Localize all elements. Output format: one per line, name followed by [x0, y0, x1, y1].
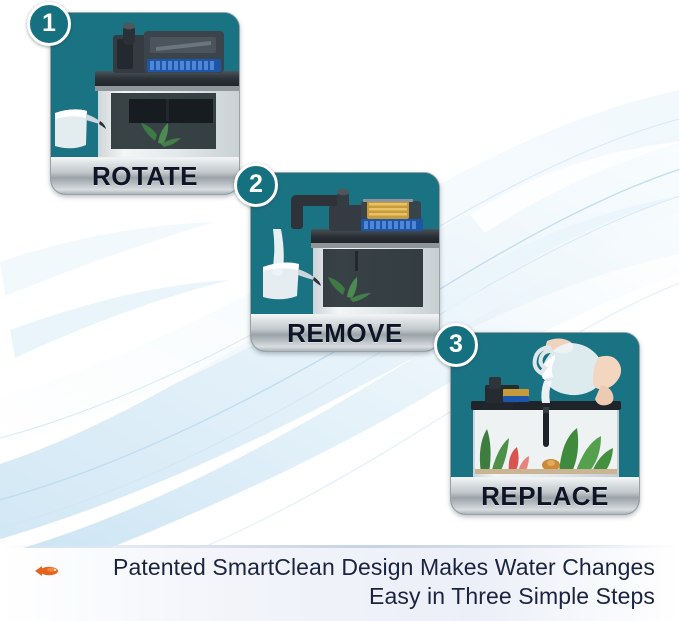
fish-icon — [33, 564, 59, 578]
step-2-badge: 2 — [234, 163, 278, 207]
step-1-label: ROTATE — [92, 163, 198, 189]
step-3-label-bar: REPLACE — [451, 477, 639, 514]
step-1-badge: 1 — [27, 2, 71, 46]
step-1-label-bar: ROTATE — [51, 157, 239, 194]
aquarium-filter-icon — [51, 13, 239, 159]
pouring-pitcher-icon — [451, 333, 639, 479]
step-3-photo — [451, 333, 639, 479]
infographic-root: ROTATE 1 — [0, 0, 679, 621]
step-panel-1[interactable]: ROTATE — [50, 12, 240, 195]
step-3-badge: 3 — [434, 323, 478, 367]
step-2-label: REMOVE — [287, 320, 403, 346]
step-panel-2[interactable]: REMOVE — [250, 172, 440, 352]
step-1-number: 1 — [42, 11, 56, 36]
step-2-number: 2 — [249, 172, 263, 197]
step-2-label-bar: REMOVE — [251, 314, 439, 351]
step-panel-3[interactable]: REPLACE — [450, 332, 640, 515]
caption-bar: Patented SmartClean Design Makes Water C… — [0, 548, 679, 621]
caption-line-2: Easy in Three Simple Steps — [70, 582, 655, 611]
aquarium-filter-removed-icon — [251, 173, 439, 316]
step-3-number: 3 — [449, 332, 463, 357]
step-3-label: REPLACE — [481, 483, 609, 509]
caption-text: Patented SmartClean Design Makes Water C… — [70, 553, 655, 611]
caption-line-1: Patented SmartClean Design Makes Water C… — [70, 553, 655, 582]
step-1-photo — [51, 13, 239, 159]
step-2-photo — [251, 173, 439, 316]
